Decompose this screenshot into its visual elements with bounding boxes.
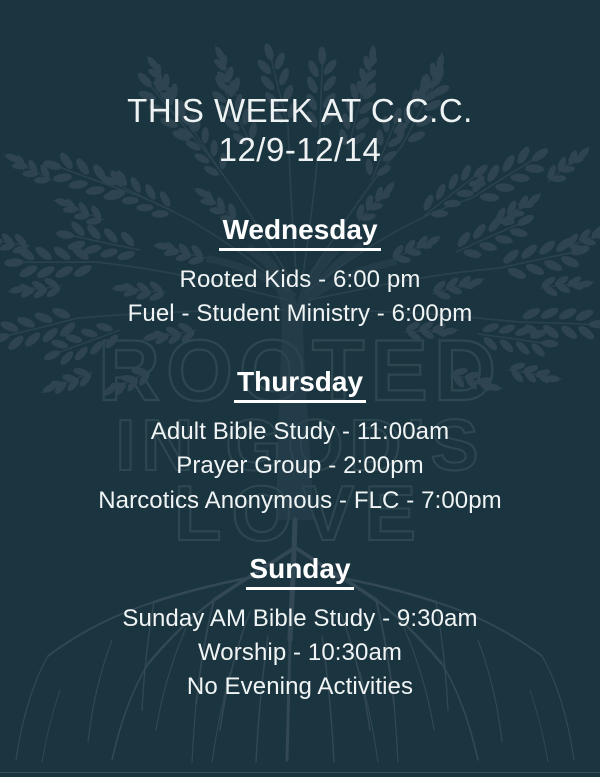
event-line: Worship - 10:30am (18, 636, 582, 670)
event-line: Prayer Group - 2:00pm (18, 449, 582, 483)
event-line: Rooted Kids - 6:00 pm (18, 263, 582, 297)
poster-content: THIS WEEK AT C.C.C. 12/9-12/14 Wednesday… (0, 0, 600, 777)
date-range: 12/9-12/14 (18, 131, 582, 170)
event-line: Fuel - Student Ministry - 6:00pm (18, 297, 582, 331)
event-line: Sunday AM Bible Study - 9:30am (18, 602, 582, 636)
day-section-sunday: Sunday Sunday AM Bible Study - 9:30am Wo… (18, 552, 582, 705)
page-title: THIS WEEK AT C.C.C. (18, 92, 582, 131)
poster-canvas: ROOTED IN GOD'S LOVE (0, 0, 600, 777)
day-heading-thursday: Thursday (234, 365, 366, 403)
day-heading-sunday: Sunday (246, 552, 353, 590)
event-line: Adult Bible Study - 11:00am (18, 415, 582, 449)
event-line: Narcotics Anonymous - FLC - 7:00pm (18, 484, 582, 518)
event-line: No Evening Activities (18, 670, 582, 704)
day-heading-wednesday: Wednesday (219, 213, 380, 251)
day-section-thursday: Thursday Adult Bible Study - 11:00am Pra… (18, 365, 582, 518)
day-section-wednesday: Wednesday Rooted Kids - 6:00 pm Fuel - S… (18, 213, 582, 331)
